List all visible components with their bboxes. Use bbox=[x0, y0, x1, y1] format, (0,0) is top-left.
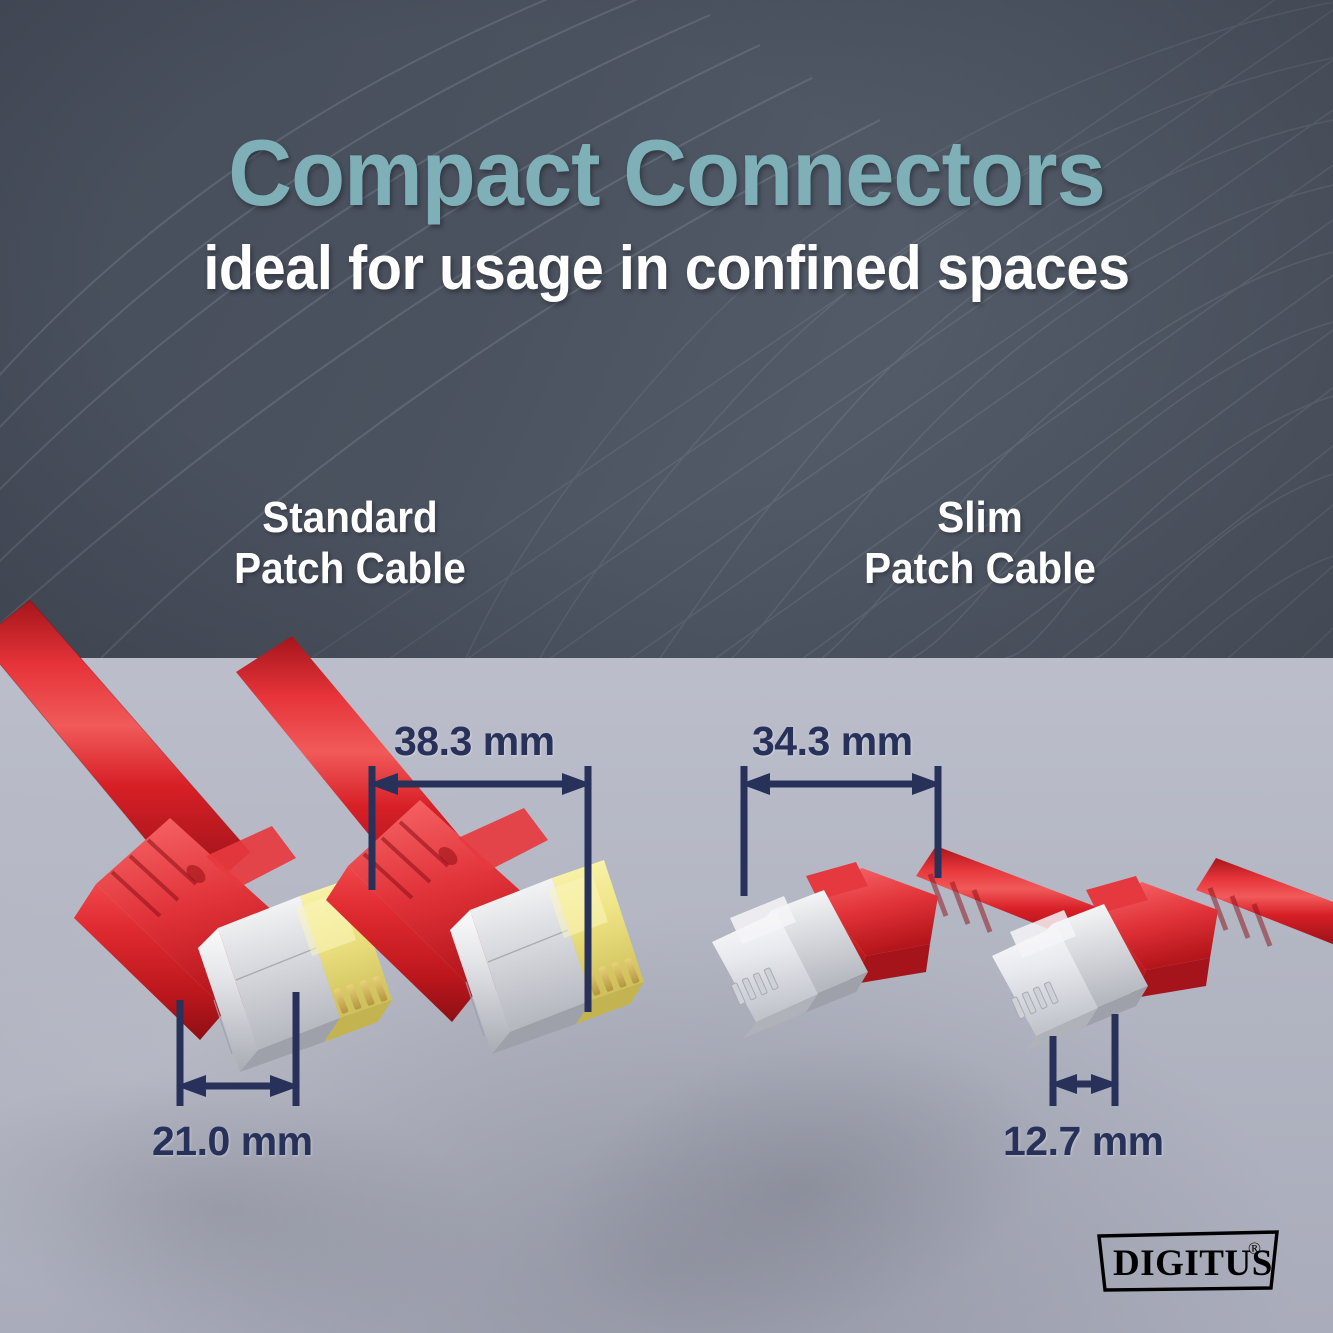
dimension-label-slim-length: 34.3 mm bbox=[752, 718, 913, 765]
dimension-label-slim-width: 12.7 mm bbox=[1003, 1118, 1164, 1165]
digitus-logo: DIGITUS ® bbox=[1095, 1230, 1281, 1294]
dimension-label-standard-length: 38.3 mm bbox=[394, 718, 555, 765]
logo-registered-mark: ® bbox=[1248, 1239, 1261, 1258]
standard-connector-left bbox=[0, 600, 392, 1072]
dimension-label-standard-width: 21.0 mm bbox=[152, 1118, 313, 1165]
product-infographic: Compact Connectors ideal for usage in co… bbox=[0, 0, 1333, 1333]
